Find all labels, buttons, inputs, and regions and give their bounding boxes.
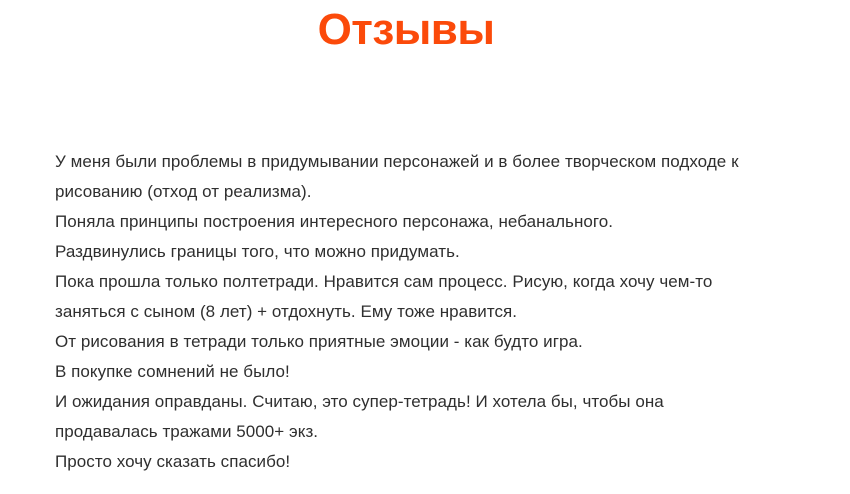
page-header: Отзывы	[0, 0, 812, 56]
page-title: Отзывы	[318, 4, 495, 56]
review-paragraph: И ожидания оправданы. Считаю, это супер-…	[55, 387, 767, 447]
review-paragraph: Просто хочу сказать спасибо!	[55, 447, 767, 477]
review-paragraph: Поняла принципы построения интересного п…	[55, 207, 767, 237]
review-paragraph: Раздвинулись границы того, что можно при…	[55, 237, 767, 267]
review-paragraph: В покупке сомнений не было!	[55, 357, 767, 387]
reviews-page: Отзывы У меня были проблемы в придумыван…	[0, 0, 850, 494]
review-paragraph: У меня были проблемы в придумывании перс…	[55, 147, 767, 207]
reviews-text-block: У меня были проблемы в придумывании перс…	[55, 147, 767, 477]
review-paragraph: От рисования в тетради только приятные э…	[55, 327, 767, 357]
review-paragraph: Пока прошла только полтетради. Нравится …	[55, 267, 767, 327]
